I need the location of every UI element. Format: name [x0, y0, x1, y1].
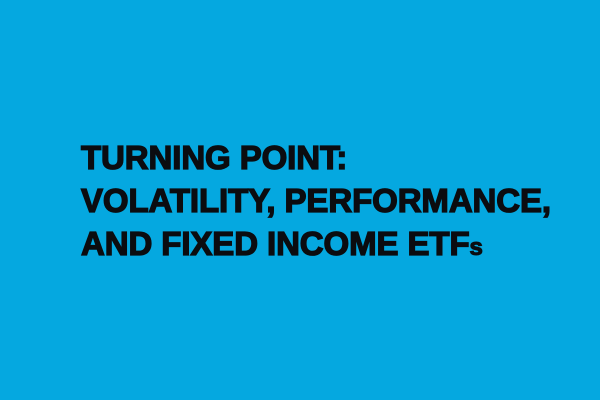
title-line-3: AND FIXED INCOME ETFs: [81, 222, 551, 265]
title-line-3-main: AND FIXED INCOME ETF: [81, 225, 470, 262]
title-slide: TURNING POINT: VOLATILITY, PERFORMANCE, …: [0, 0, 600, 400]
title-line-2: VOLATILITY, PERFORMANCE,: [81, 179, 551, 222]
title-line-1: TURNING POINT:: [81, 136, 551, 179]
title-line-3-suffix: s: [470, 234, 483, 261]
page-title: TURNING POINT: VOLATILITY, PERFORMANCE, …: [81, 136, 551, 265]
